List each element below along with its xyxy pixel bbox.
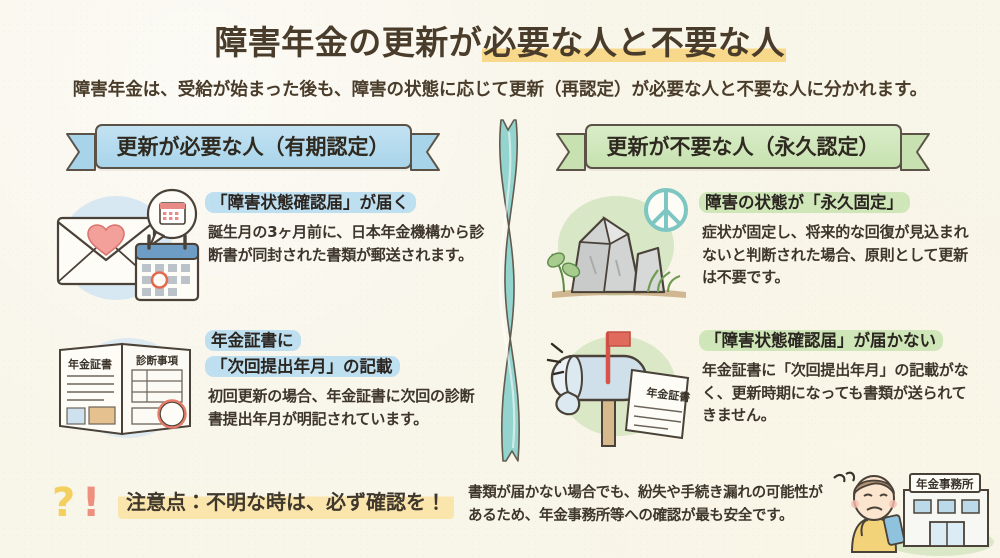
item-text: 「障害状態確認届」が届かない 年金証書に「次回提出年月」の記載がなく、更新時期に…: [702, 328, 980, 427]
ribbon-tail-left-icon: [552, 132, 586, 172]
item-body: 初回更新の場合、年金証書に次回の診断書提出年月が明記されています。: [208, 385, 486, 430]
banner-right-label: 更新が不要な人（永久認定）: [585, 124, 902, 169]
column-renewal-not-required: 障害の状態が「永久固定」 症状が固定し、将来的な回復が見込まれないと判断された場…: [512, 182, 982, 458]
item-text: 年金証書に 「次回提出年月」の記載 初回更新の場合、年金証書に次回の診断書提出年…: [208, 328, 486, 430]
list-item: 年金証書 「障害状態確認届」が届かない 年金証書に「次回提出年月」の記載がなく、…: [512, 320, 982, 458]
item-heading-line1: 年金証書に: [208, 330, 297, 351]
item-heading: 「障害状態確認届」が届く: [208, 192, 412, 213]
item-body: 誕生月の3ヶ月前に、日本年金機構から診断書が同封された書類が郵送されます。: [208, 221, 486, 266]
ribbon-tail-left-icon: [62, 132, 96, 172]
page-title-highlight: 必要な人と不要な人: [482, 23, 786, 62]
question-exclamation-icon: ? !: [52, 480, 114, 530]
ribbon-tail-right-icon: [410, 132, 444, 172]
open-pension-certificate-booklet-icon: 年金証書 診断事項: [52, 322, 204, 448]
item-text: 障害の状態が「永久固定」 症状が固定し、将来的な回復が見込まれないと判断された場…: [702, 190, 980, 289]
footer-note: 書類が届かない場合でも、紛失や手続き漏れの可能性があるため、年金事務所等への確認…: [468, 482, 826, 528]
booklet-label-left: 年金証書: [68, 357, 112, 371]
item-heading-wrap: 障害の状態が「永久固定」: [702, 190, 980, 216]
item-heading-wrap: 「障害状態確認届」が届かない: [702, 328, 980, 354]
item-body: 症状が固定し、将来的な回復が見込まれないと判断された場合、原則として更新は不要で…: [702, 221, 980, 289]
banner-renewal-required: 更新が必要な人（有期認定）: [88, 126, 418, 166]
booklet-label-right: 診断事項: [136, 354, 178, 367]
person-calling-pension-office-icon: 年金事務所: [822, 464, 997, 558]
list-item: 「障害状態確認届」が届く 誕生月の3ヶ月前に、日本年金機構から診断書が同封された…: [18, 182, 488, 320]
item-text: 「障害状態確認届」が届く 誕生月の3ヶ月前に、日本年金機構から診断書が同封された…: [208, 190, 486, 266]
page-title-plain: 障害年金の更新が: [214, 23, 482, 62]
item-heading: 「障害状態確認届」が届かない: [702, 330, 939, 351]
item-heading-wrap: 年金証書に 「次回提出年月」の記載: [208, 328, 486, 380]
item-heading-wrap: 「障害状態確認届」が届く: [208, 190, 486, 216]
envelope-with-heart-and-calendar-icon: [52, 184, 204, 310]
ribbon-tail-right-icon: [900, 132, 934, 172]
list-item: 障害の状態が「永久固定」 症状が固定し、将来的な回復が見込まれないと判断された場…: [512, 182, 982, 320]
list-item: 年金証書 診断事項 年金証書に 「次回提出年月」の記載 初回更新の場合、年金証書…: [18, 320, 488, 458]
item-body: 年金証書に「次回提出年月」の記載がなく、更新時期になっても書類が送られてきません…: [702, 359, 980, 427]
item-heading: 障害の状態が「永久固定」: [702, 192, 906, 213]
column-renewal-required: 「障害状態確認届」が届く 誕生月の3ヶ月前に、日本年金機構から診断書が同封された…: [18, 182, 488, 458]
footer-caution-bar: ? ! 注意点：不明な時は、必ず確認を！ 書類が届かない場合でも、紛失や手続き漏…: [0, 462, 1000, 558]
item-heading-line2: 「次回提出年月」の記載: [208, 356, 396, 377]
banner-renewal-not-required: 更新が不要な人（永久認定）: [578, 126, 908, 166]
office-sign-label: 年金事務所: [916, 477, 974, 491]
banner-left-label: 更新が必要な人（有期認定）: [95, 124, 412, 169]
empty-mailbox-with-document-icon: 年金証書: [546, 322, 698, 448]
page-title: 障害年金の更新が必要な人と不要な人: [0, 16, 1000, 64]
page-subtitle: 障害年金は、受給が始まった後も、障害の状態に応じて更新（再認定）が必要な人と不要…: [0, 76, 1000, 101]
infographic-page: 障害年金の更新が必要な人と不要な人 障害年金は、受給が始まった後も、障害の状態に…: [0, 0, 1000, 558]
rock-with-peace-symbol-icon: [546, 184, 698, 310]
question-mark-glyph: ?: [52, 480, 75, 526]
caution-label: 注意点：不明な時は、必ず確認を！: [118, 484, 454, 519]
exclamation-mark-glyph: !: [82, 480, 100, 526]
